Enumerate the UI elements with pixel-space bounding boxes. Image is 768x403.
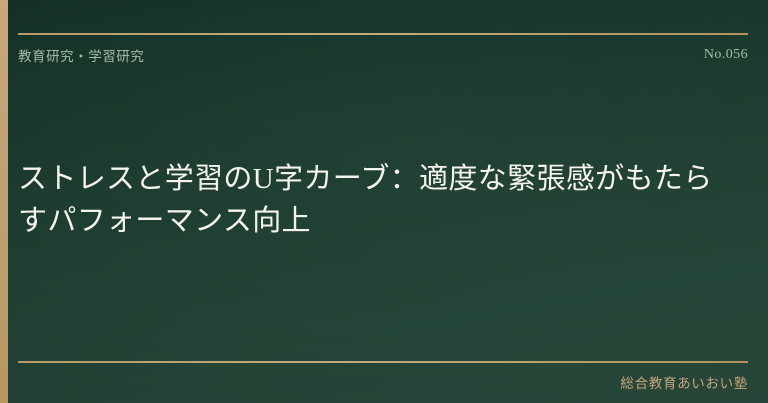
issue-number: No.056 (704, 47, 748, 63)
left-accent-strip (0, 0, 8, 403)
page-title: ストレスと学習のU字カーブ：適度な緊張感がもたらすパフォーマンス向上 (18, 158, 738, 242)
title-block: ストレスと学習のU字カーブ：適度な緊張感がもたらすパフォーマンス向上 (18, 158, 738, 242)
header: 教育研究・学習研究 No.056 (18, 44, 748, 66)
slide-canvas: 教育研究・学習研究 No.056 ストレスと学習のU字カーブ：適度な緊張感がもた… (0, 0, 768, 403)
header-divider-rule (18, 33, 748, 35)
category-kicker: 教育研究・学習研究 (18, 45, 144, 65)
footer-divider-rule (18, 361, 748, 363)
brand-name: 総合教育あいおい塾 (620, 372, 748, 392)
footer: 総合教育あいおい塾 (18, 372, 748, 392)
